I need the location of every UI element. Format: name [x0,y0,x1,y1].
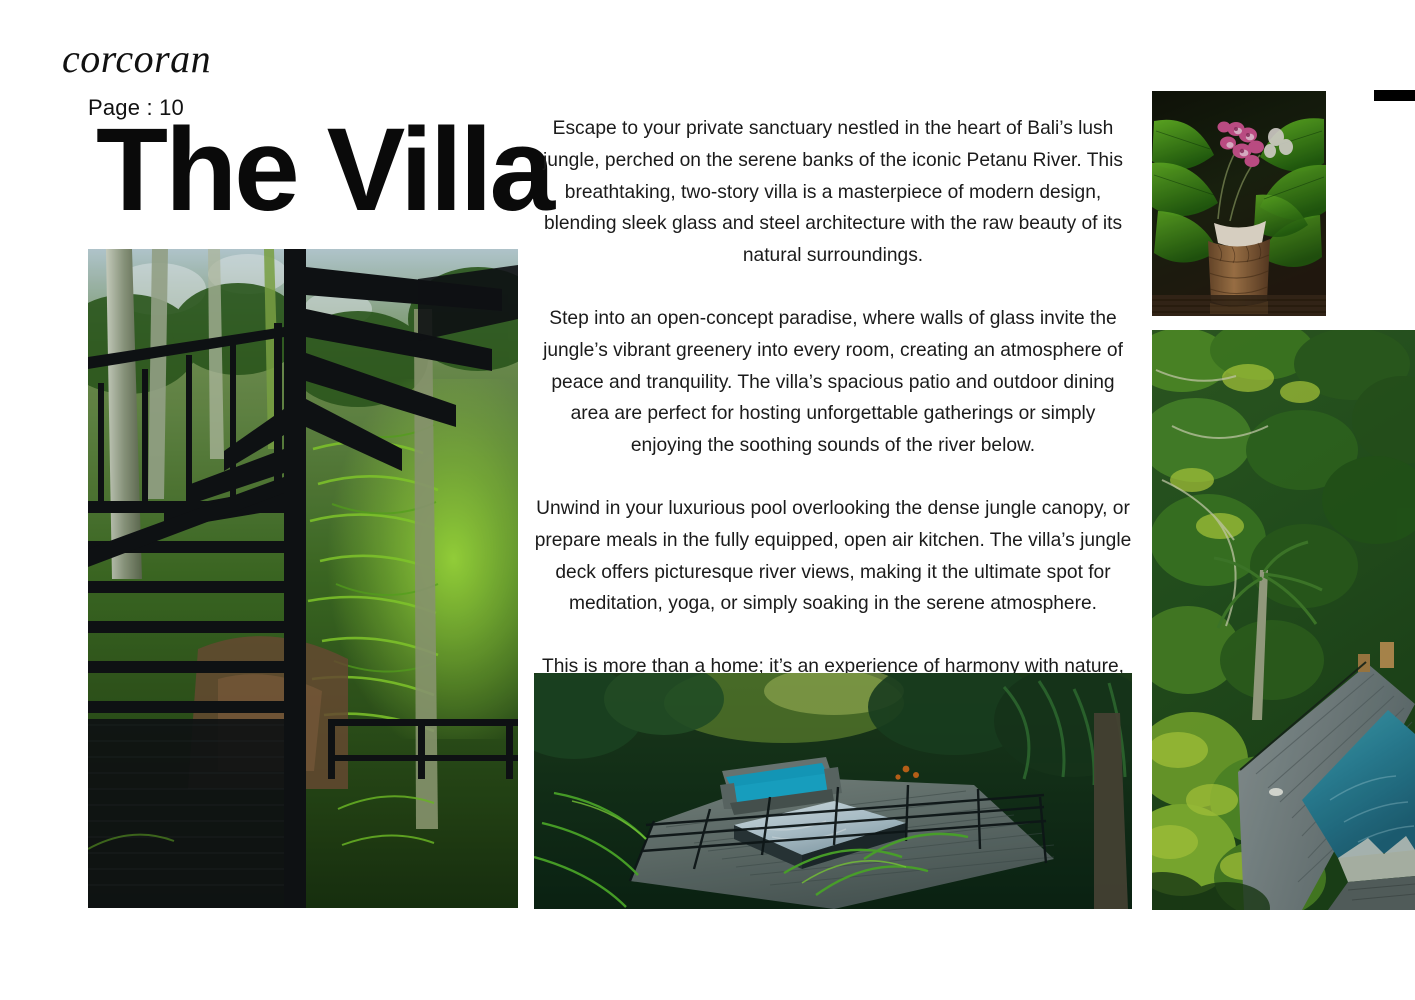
photo-spiral-staircase [88,249,518,908]
brand-logo: corcoran [62,39,211,79]
accent-bar [1374,90,1415,101]
paragraph-2: Step into an open-concept paradise, wher… [534,303,1132,462]
page-title: The Villa [96,107,552,234]
paragraph-3: Unwind in your luxurious pool overlookin… [534,493,1132,620]
photo-aerial-pool-canopy [1152,330,1415,910]
photo-orchid-planter [1152,91,1326,316]
photo-jungle-deck [534,673,1132,909]
body-copy: Escape to your private sanctuary nestled… [534,113,1132,715]
brochure-page: corcoran Page : 10 The Villa Escape to y… [0,0,1415,1000]
paragraph-1: Escape to your private sanctuary nestled… [534,113,1132,272]
